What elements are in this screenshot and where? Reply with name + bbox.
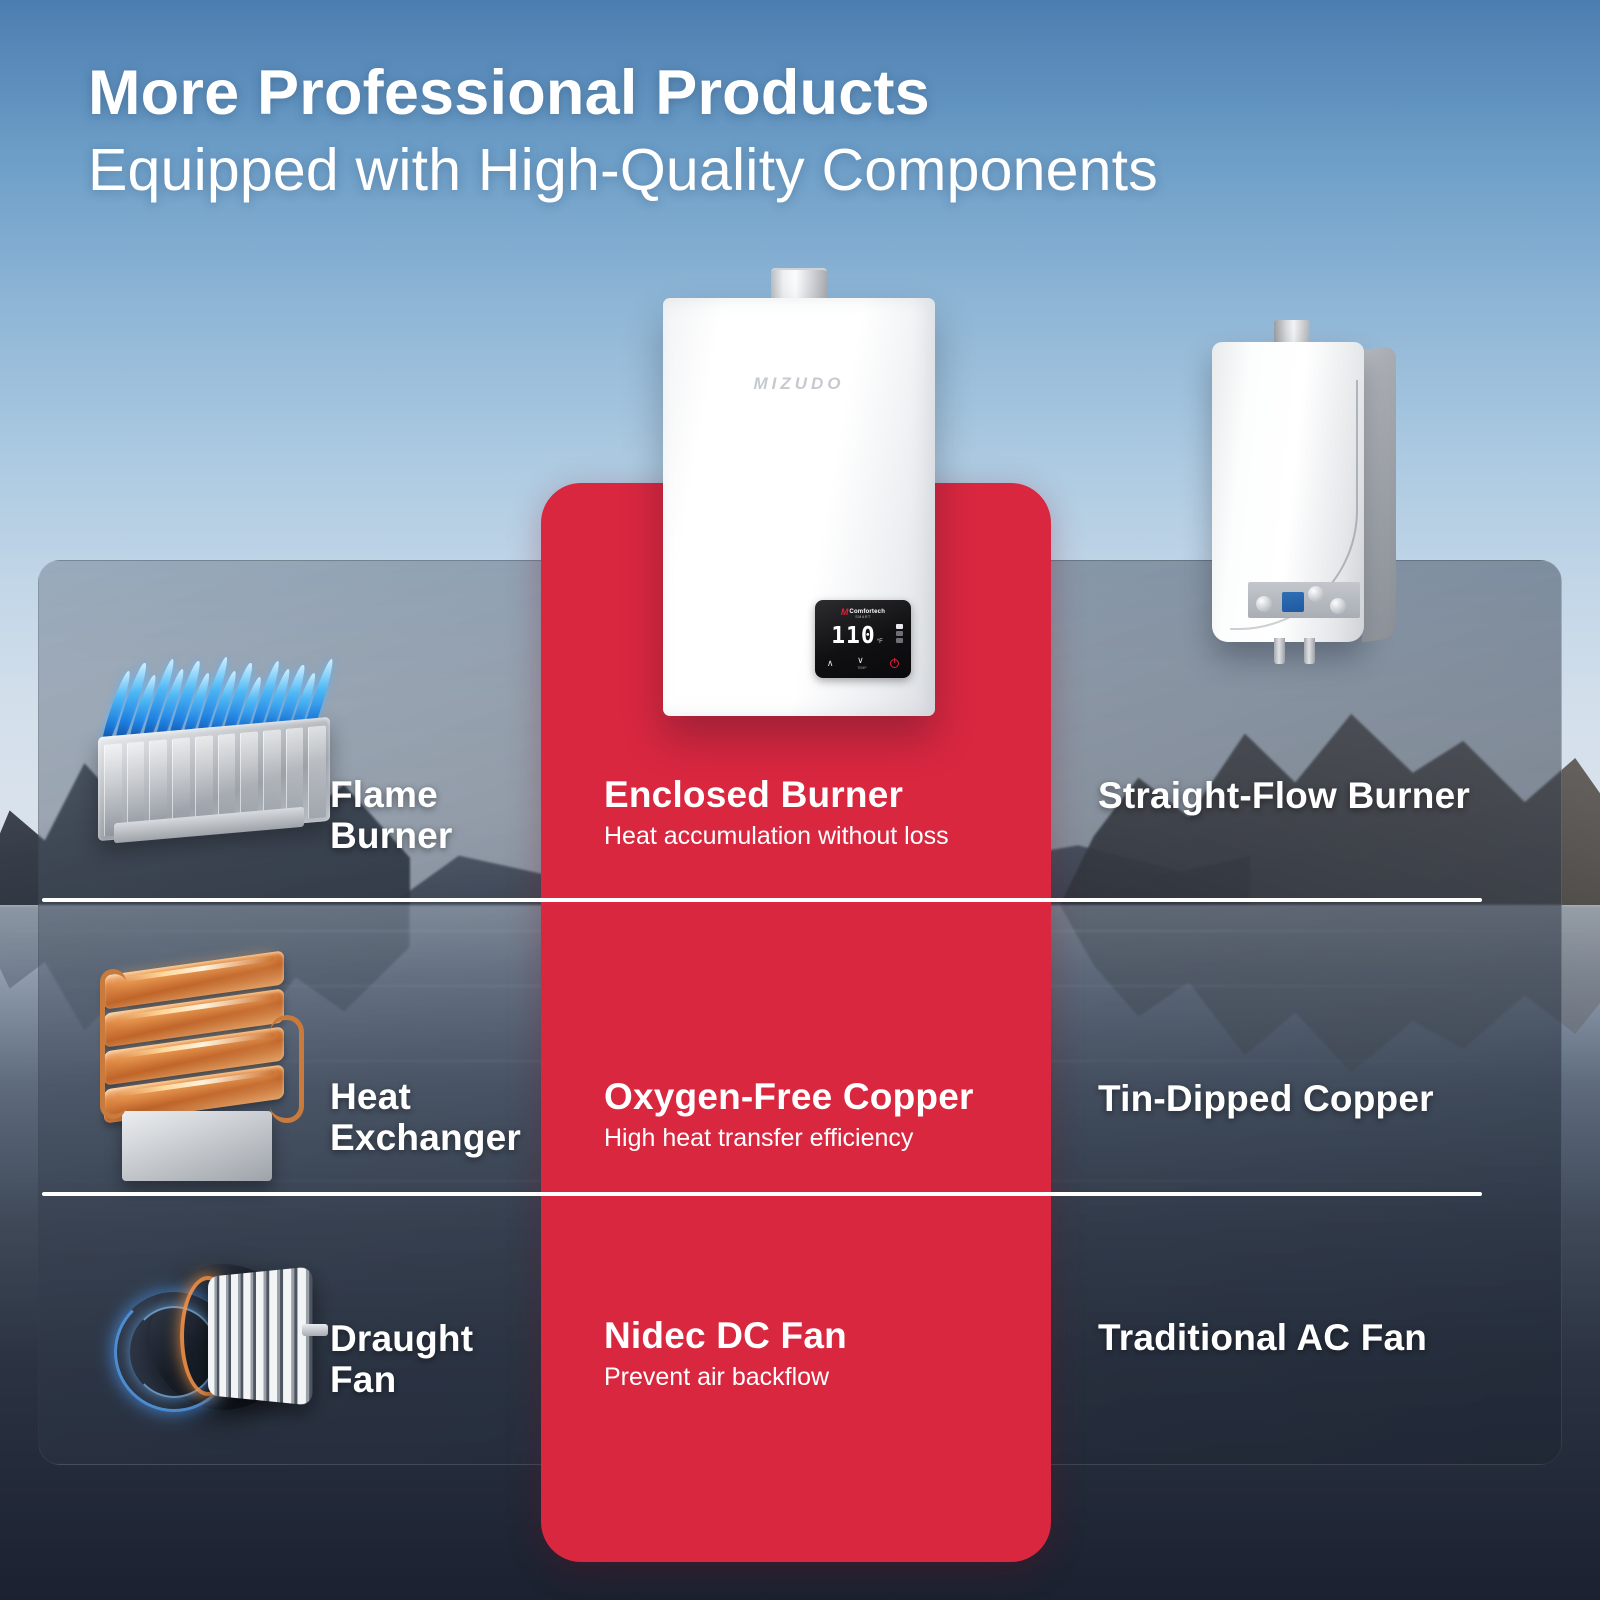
- competitor-knob: [1256, 596, 1272, 612]
- feature-label-2-line2: Fan: [330, 1359, 473, 1400]
- competitor-display: [1282, 592, 1304, 612]
- temp-down-button[interactable]: ∨ TEMP: [857, 656, 866, 670]
- temp-up-button[interactable]: ∧: [827, 659, 834, 668]
- gas-burner-flame-image: [88, 655, 348, 855]
- copper-tube: [100, 969, 126, 1119]
- hero-body: MIZUDO M Comfortech SMART 110 °F ∧: [663, 298, 935, 716]
- competitor-knob: [1308, 586, 1324, 602]
- control-buttons[interactable]: ∧ ∨ TEMP: [815, 656, 911, 670]
- theirs-label-1: Tin-Dipped Copper: [1098, 1078, 1434, 1119]
- feature-label-1-line1: Heat: [330, 1076, 521, 1117]
- ours-subtitle-2: Prevent air backflow: [604, 1362, 847, 1393]
- page-title-line1: More Professional Products: [88, 57, 930, 129]
- chevron-up-icon: ∧: [827, 659, 834, 668]
- status-bar: [896, 638, 903, 643]
- power-icon[interactable]: [890, 659, 899, 668]
- feature-label-1-line2: Exchanger: [330, 1117, 521, 1158]
- comfortech-logo-subtext: SMART: [815, 615, 911, 619]
- status-bar: [896, 624, 903, 629]
- competitor-pipe: [1274, 638, 1285, 664]
- mizudo-water-heater-image: MIZUDO M Comfortech SMART 110 °F ∧: [663, 268, 935, 716]
- ours-label-1: Oxygen-Free Copper High heat transfer ef…: [604, 1077, 974, 1154]
- competitor-side-panel: [1362, 346, 1396, 642]
- competitor-pipe: [1304, 638, 1315, 664]
- feature-label-1: Heat Exchanger: [330, 1076, 521, 1159]
- dc-motor-fan-image: [96, 1238, 332, 1434]
- ours-title-1: Oxygen-Free Copper: [604, 1077, 974, 1118]
- feature-label-0-line2: Burner: [330, 815, 453, 856]
- temperature-unit: °F: [877, 639, 883, 645]
- feature-label-2: Draught Fan: [330, 1318, 473, 1401]
- temp-label: TEMP: [857, 666, 866, 670]
- row-divider-1: [42, 898, 1482, 902]
- competitor-water-heater-image: [1212, 320, 1398, 668]
- control-panel[interactable]: M Comfortech SMART 110 °F ∧ ∨ TEMP: [815, 600, 911, 678]
- brand-logo: MIZUDO: [663, 374, 935, 394]
- ours-title-2: Nidec DC Fan: [604, 1316, 847, 1357]
- copper-tube: [270, 1015, 304, 1123]
- heat-exchanger-base: [122, 1111, 272, 1181]
- fan-rotor: [208, 1266, 313, 1405]
- feature-label-2-line1: Draught: [330, 1318, 473, 1359]
- temperature-display: 110 °F: [830, 623, 884, 650]
- competitor-knob: [1330, 598, 1346, 614]
- theirs-label-0: Straight-Flow Burner: [1098, 775, 1470, 816]
- page-title-line2: Equipped with High-Quality Components: [88, 136, 1158, 204]
- fan-shaft: [302, 1324, 328, 1336]
- chevron-down-icon: ∨: [857, 656, 866, 665]
- temperature-value: 110: [831, 625, 876, 648]
- copper-heat-exchanger-image: [92, 945, 332, 1185]
- status-indicator-bars: [896, 624, 903, 643]
- row-divider-2: [42, 1192, 1482, 1196]
- ours-label-0: Enclosed Burner Heat accumulation withou…: [604, 775, 949, 852]
- feature-label-0: Flame Burner: [330, 774, 453, 857]
- ours-label-2: Nidec DC Fan Prevent air backflow: [604, 1316, 847, 1393]
- ours-subtitle-0: Heat accumulation without loss: [604, 821, 949, 852]
- feature-label-0-line1: Flame: [330, 774, 453, 815]
- theirs-label-2: Traditional AC Fan: [1098, 1317, 1427, 1358]
- ours-subtitle-1: High heat transfer efficiency: [604, 1123, 974, 1154]
- ours-title-0: Enclosed Burner: [604, 775, 949, 816]
- status-bar: [896, 631, 903, 636]
- hero-flue-vent: [771, 268, 827, 302]
